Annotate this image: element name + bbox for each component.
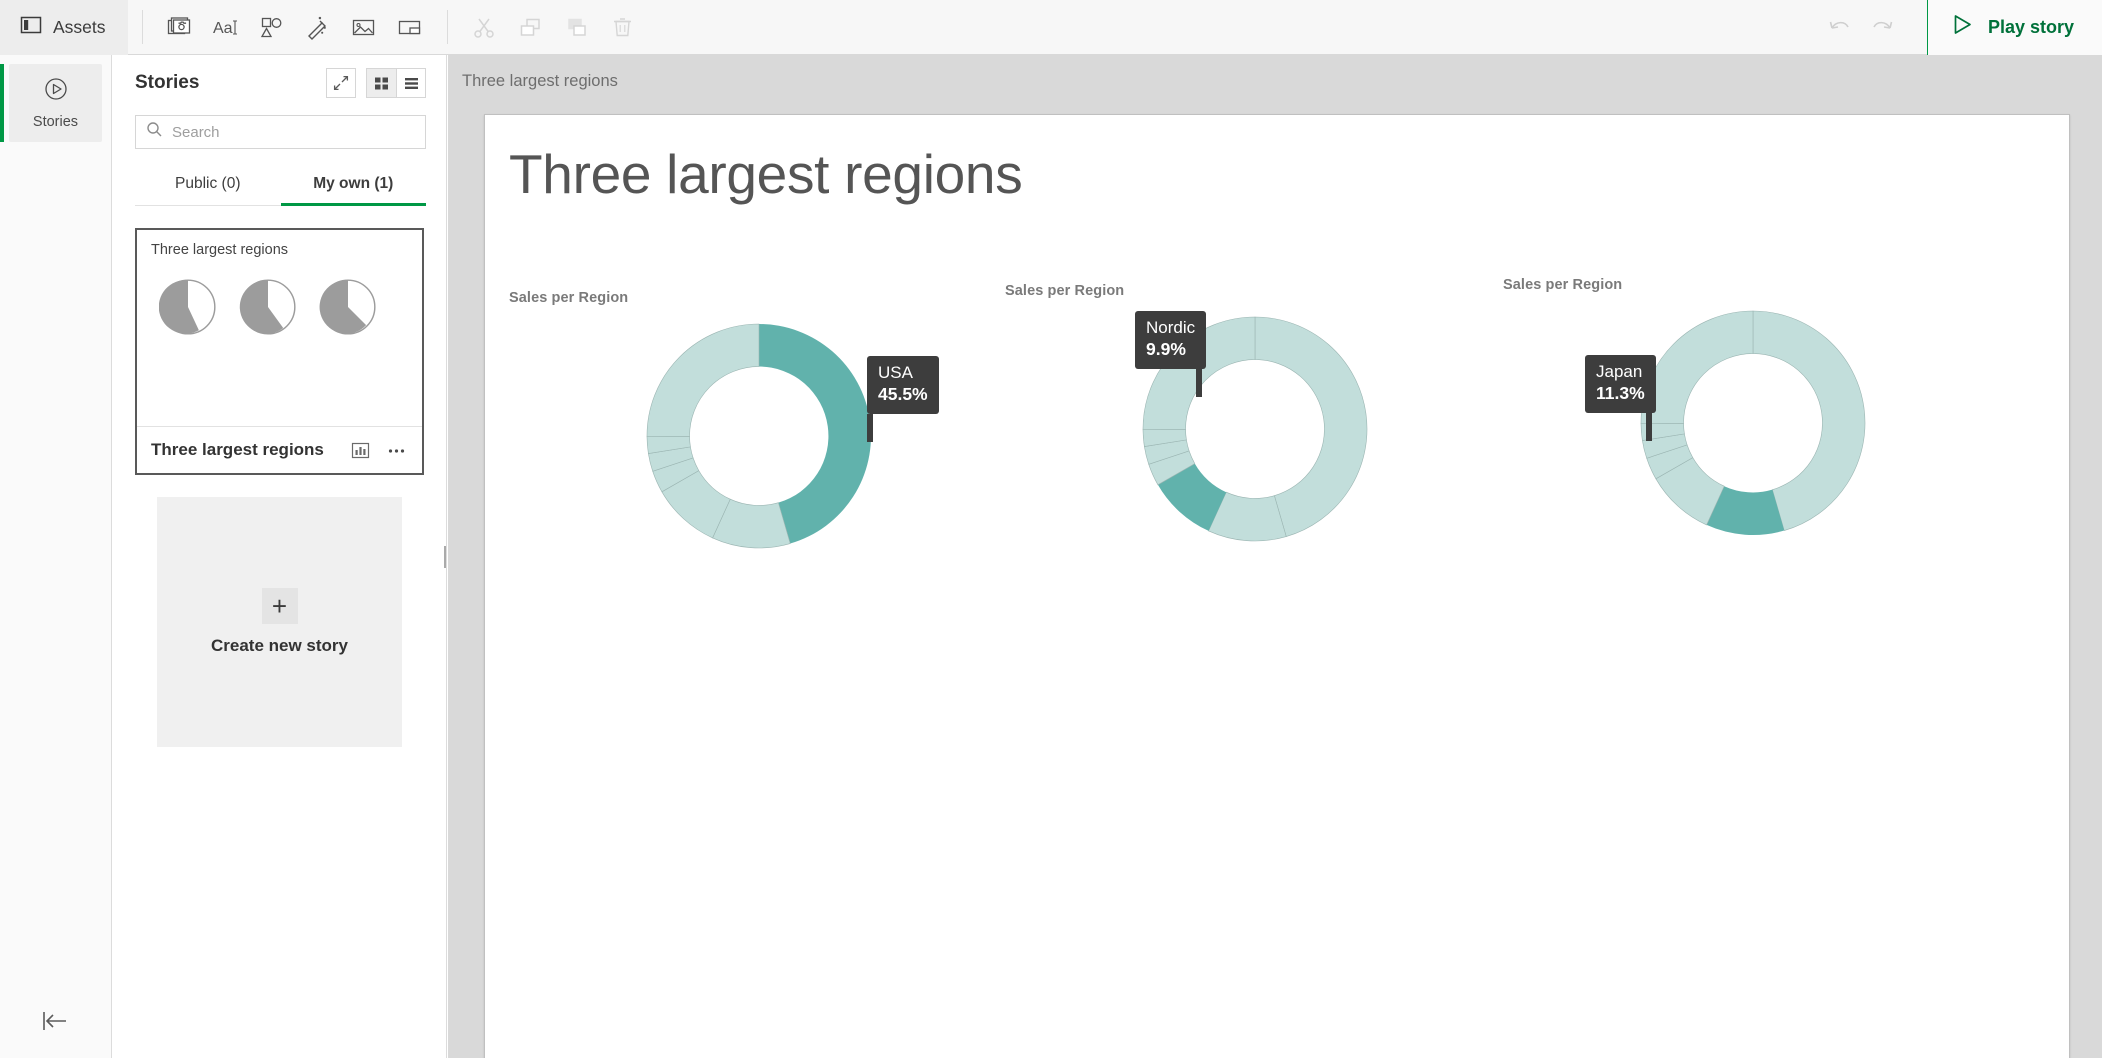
collapse-sidebar-button[interactable] <box>0 1008 112 1034</box>
page-title: Stories <box>135 72 326 94</box>
chart-usa[interactable]: Sales per Region USA 45.5% <box>509 290 1009 576</box>
media-icon[interactable] <box>387 4 433 50</box>
tooltip-nordic: Nordic 9.9% <box>1135 311 1206 369</box>
tooltip-japan: Japan 11.3% <box>1585 355 1656 413</box>
tab-public[interactable]: Public (0) <box>135 164 281 205</box>
assets-label: Assets <box>53 17 106 38</box>
qlik-story-editor: Assets Aa <box>0 0 2102 1058</box>
tooltip-usa-value: 45.5% <box>878 384 928 405</box>
tooltip-nordic-label: Nordic <box>1146 318 1195 339</box>
play-triangle-icon <box>1950 12 1975 42</box>
slide-title: Three largest regions <box>509 142 1022 206</box>
tab-my-own-label: My own (1) <box>313 175 393 192</box>
copy-icon <box>508 4 554 50</box>
cut-icon <box>462 4 508 50</box>
effects-icon[interactable] <box>295 4 341 50</box>
sidebar-item-label: Stories <box>33 114 78 130</box>
toolbar-divider-1 <box>142 10 143 44</box>
tooltip-usa: USA 45.5% <box>867 356 939 414</box>
donut-nordic-svg[interactable] <box>1005 299 1505 559</box>
chart-japan[interactable]: Sales per Region Japan 11.3% <box>1503 277 2003 563</box>
stories-panel: Stories <box>113 55 447 1058</box>
create-new-story-label: Create new story <box>211 636 348 656</box>
search-box[interactable] <box>135 115 426 149</box>
tab-public-label: Public (0) <box>175 175 240 192</box>
create-new-story-button[interactable]: + Create new story <box>157 497 402 747</box>
stories-tabs: Public (0) My own (1) <box>135 164 426 206</box>
chart-nordic[interactable]: Sales per Region Nordic 9.9% <box>1005 283 1505 569</box>
top-toolbar: Assets Aa <box>0 0 2102 55</box>
play-story-label: Play story <box>1988 17 2074 38</box>
ellipsis-icon[interactable] <box>383 437 409 463</box>
donut-usa[interactable]: USA 45.5% <box>509 306 1009 576</box>
donut-japan-svg[interactable] <box>1503 293 2003 553</box>
image-icon[interactable] <box>341 4 387 50</box>
play-circle-icon <box>43 76 69 107</box>
story-slide-canvas[interactable]: Three largest regions Sales per Region U… <box>484 114 2070 1058</box>
tooltip-usa-label: USA <box>878 363 928 384</box>
tooltip-japan-label: Japan <box>1596 362 1645 383</box>
redo-icon[interactable] <box>1861 4 1907 50</box>
grid-view-button[interactable] <box>366 68 396 98</box>
tooltip-japan-value: 11.3% <box>1596 383 1645 404</box>
story-card-name: Three largest regions <box>151 440 337 460</box>
text-icon[interactable]: Aa <box>203 4 249 50</box>
chart-nordic-title: Sales per Region <box>1005 283 1505 299</box>
expand-button[interactable] <box>326 68 356 98</box>
assets-button[interactable]: Assets <box>0 0 128 55</box>
toolbar-divider-2 <box>447 10 448 44</box>
left-rail: Stories <box>0 55 112 1058</box>
donut-japan[interactable]: Japan 11.3% <box>1503 293 2003 563</box>
chart-usa-title: Sales per Region <box>509 290 1009 306</box>
tab-my-own[interactable]: My own (1) <box>281 164 427 205</box>
tooltip-usa-stem <box>867 414 873 442</box>
search-icon <box>146 121 163 143</box>
donut-slice-rest-of-world[interactable] <box>647 324 759 437</box>
view-toggle-group <box>366 68 426 98</box>
svg-text:Aa: Aa <box>213 20 233 37</box>
story-card-thumb-title: Three largest regions <box>151 242 408 258</box>
donut-slice-rest-of-world[interactable] <box>1641 311 1753 424</box>
stories-list: Three largest regions <box>113 206 446 747</box>
plus-icon: + <box>262 588 298 624</box>
play-story-button[interactable]: Play story <box>1928 0 2102 55</box>
donut-usa-svg[interactable] <box>509 306 1009 566</box>
thumb-pie-2 <box>239 278 297 336</box>
chart-japan-title: Sales per Region <box>1503 277 2003 293</box>
story-workspace: Three largest regions Three largest regi… <box>448 55 2102 1058</box>
stories-panel-header: Stories <box>113 55 446 111</box>
list-view-button[interactable] <box>396 68 426 98</box>
story-card-footer: Three largest regions <box>137 426 422 473</box>
undo-icon[interactable] <box>1815 4 1861 50</box>
story-card[interactable]: Three largest regions <box>135 228 424 475</box>
sidebar-item-stories[interactable]: Stories <box>9 64 102 142</box>
thumb-pie-3 <box>319 278 377 336</box>
snapshot-library-icon[interactable] <box>157 4 203 50</box>
delete-icon <box>600 4 646 50</box>
resize-grip-line <box>444 546 446 568</box>
shapes-icon[interactable] <box>249 4 295 50</box>
paste-icon <box>554 4 600 50</box>
search-container <box>113 111 446 149</box>
donut-nordic[interactable]: Nordic 9.9% <box>1005 299 1505 569</box>
plus-glyph: + <box>272 593 287 619</box>
tooltip-japan-stem <box>1646 413 1652 441</box>
bar-chart-icon[interactable] <box>347 437 373 463</box>
thumb-pie-1 <box>159 278 217 336</box>
story-card-thumb-charts <box>151 278 408 336</box>
search-input[interactable] <box>172 124 415 141</box>
breadcrumb: Three largest regions <box>462 72 618 91</box>
panel-layout-icon <box>20 14 42 41</box>
tooltip-nordic-stem <box>1196 369 1202 397</box>
story-card-preview: Three largest regions <box>137 230 422 426</box>
tooltip-nordic-value: 9.9% <box>1146 339 1195 360</box>
